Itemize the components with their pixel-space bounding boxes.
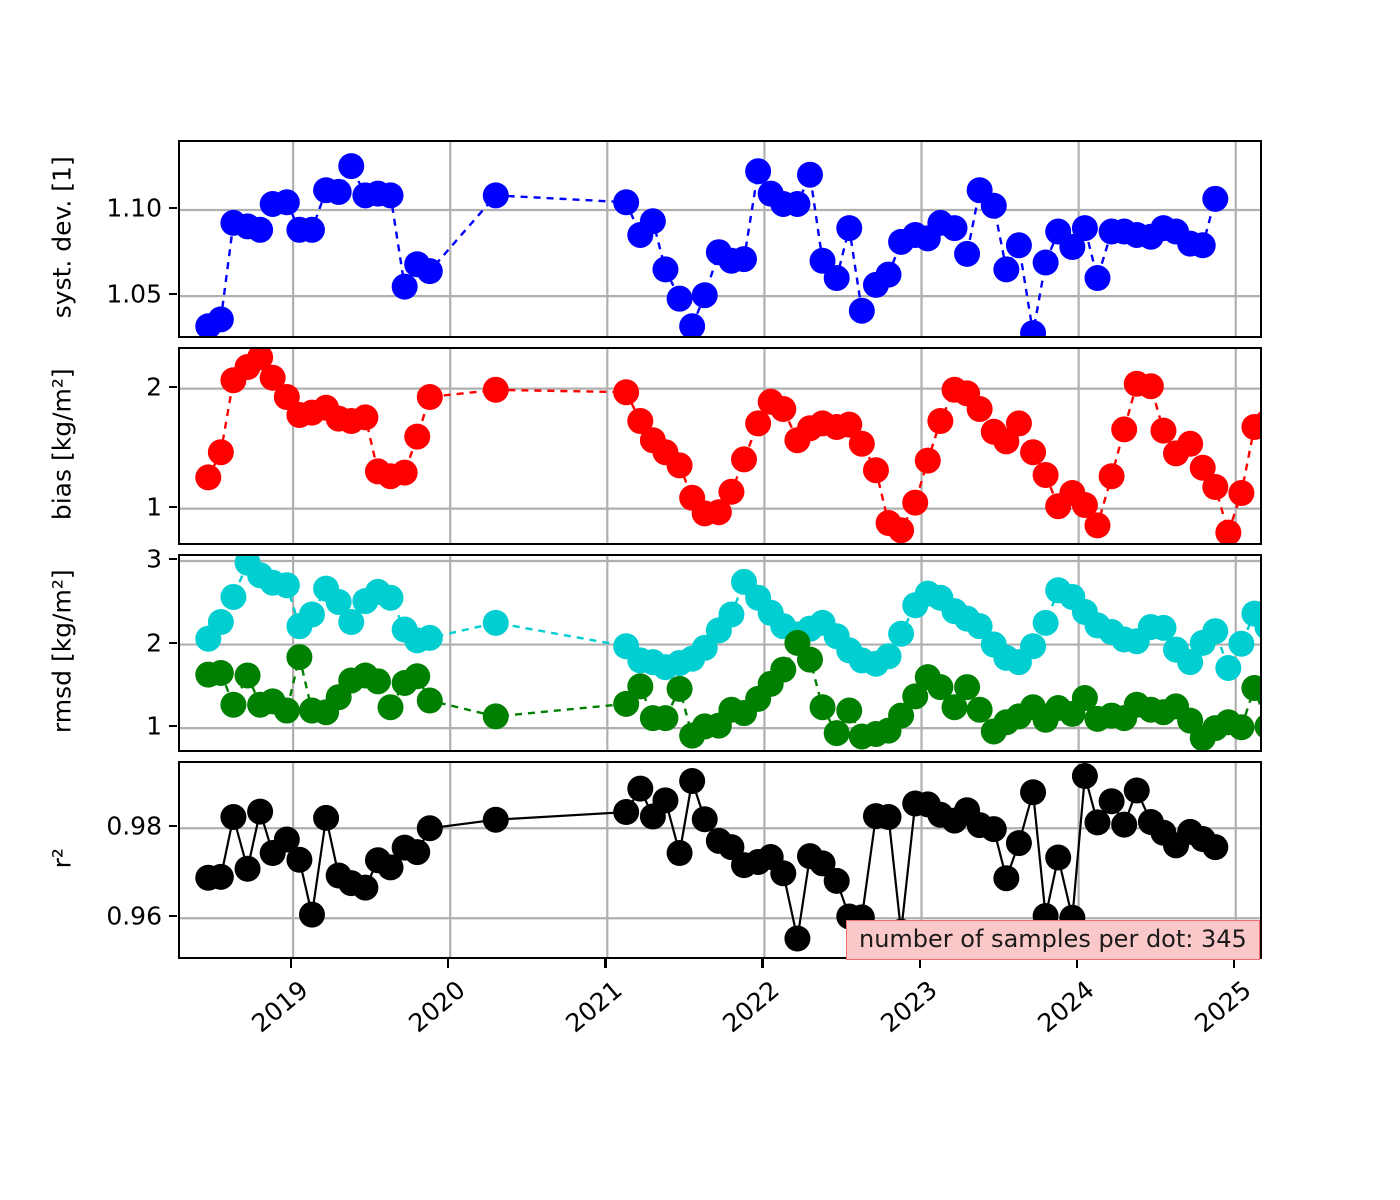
data-point <box>208 439 234 465</box>
y-tickmark <box>169 386 177 388</box>
data-point <box>483 377 509 403</box>
data-point <box>1006 232 1032 258</box>
data-point <box>692 282 718 308</box>
y-tick-label: 2 <box>146 628 162 657</box>
data-point <box>797 162 823 188</box>
data-point <box>731 246 757 272</box>
data-point <box>1045 845 1071 871</box>
data-point <box>784 191 810 217</box>
data-point <box>770 657 796 683</box>
data-point <box>1084 809 1110 835</box>
data-point <box>993 865 1019 891</box>
data-point <box>1177 431 1203 457</box>
data-point <box>1150 418 1176 444</box>
data-point <box>417 815 443 841</box>
data-point <box>627 776 653 802</box>
data-point <box>286 847 312 873</box>
y-axis-label-panel-3: rmsd [kg/m²] <box>48 551 77 751</box>
data-point <box>1241 675 1260 701</box>
x-tick-label: 2023 <box>850 975 942 1059</box>
data-point <box>1111 416 1137 442</box>
data-point <box>888 621 914 647</box>
data-point <box>1033 610 1059 636</box>
data-point <box>718 479 744 505</box>
data-point <box>613 189 639 215</box>
y-tickmark <box>169 725 177 727</box>
data-point <box>299 902 325 928</box>
data-point <box>195 464 221 490</box>
data-point <box>1202 618 1228 644</box>
data-point <box>404 424 430 450</box>
data-point <box>902 490 928 516</box>
data-point <box>208 864 234 890</box>
y-tick-label: 1 <box>146 492 162 521</box>
data-point <box>993 256 1019 282</box>
y-tickmark <box>169 642 177 644</box>
data-point <box>718 601 744 627</box>
y-axis-label-panel-2: bias [kg/m²] <box>48 344 77 544</box>
series-markers-bias <box>195 349 1260 543</box>
data-point <box>797 647 823 673</box>
y-tickmark <box>169 506 177 508</box>
data-point <box>667 676 693 702</box>
data-point <box>483 182 509 208</box>
data-point <box>745 158 771 184</box>
y-tickmark <box>169 293 177 295</box>
y-axis-label-panel-4: r² <box>48 758 77 958</box>
data-point <box>1228 714 1254 740</box>
panel-svg-3 <box>180 556 1260 750</box>
data-point <box>483 807 509 833</box>
series-line-bias <box>208 357 1260 532</box>
data-point <box>352 875 378 901</box>
data-point <box>667 286 693 312</box>
panel-plot-area-1 <box>180 142 1260 336</box>
data-point <box>392 460 418 486</box>
data-point <box>981 816 1007 842</box>
data-point <box>235 662 261 688</box>
data-point <box>640 208 666 234</box>
data-point <box>667 452 693 478</box>
data-point <box>1072 763 1098 789</box>
y-tickmark <box>169 915 177 917</box>
data-point <box>876 643 902 669</box>
data-point <box>876 262 902 288</box>
x-tickmark <box>604 959 606 968</box>
data-point <box>299 601 325 627</box>
data-point <box>731 446 757 472</box>
figure-canvas: 1.051.10syst. dev. [1]12bias [kg/m²]123r… <box>0 0 1400 1200</box>
data-point <box>365 668 391 694</box>
data-point <box>1099 463 1125 489</box>
data-point <box>824 265 850 291</box>
data-point <box>1072 215 1098 241</box>
data-point <box>784 926 810 952</box>
data-point <box>849 298 875 324</box>
data-point <box>836 698 862 724</box>
x-tickmark <box>290 959 292 968</box>
y-tick-label: 1 <box>146 712 162 741</box>
data-point <box>967 697 993 723</box>
y-tickmark <box>169 558 177 560</box>
x-tick-label: 2020 <box>379 975 471 1059</box>
data-point <box>652 256 678 282</box>
panel-plot-area-3 <box>180 556 1260 750</box>
series-markers-rmsd-unbiased <box>195 630 1260 750</box>
panel-svg-1 <box>180 142 1260 336</box>
x-tick-label: 2025 <box>1164 975 1256 1059</box>
data-point <box>378 182 404 208</box>
data-point <box>888 517 914 543</box>
x-tickmark <box>447 959 449 968</box>
data-point <box>863 457 889 483</box>
data-point <box>824 720 850 746</box>
data-point <box>274 698 300 724</box>
data-point <box>770 396 796 422</box>
data-point <box>274 189 300 215</box>
data-point <box>1020 779 1046 805</box>
data-point <box>954 674 980 700</box>
data-point <box>613 379 639 405</box>
data-point <box>417 258 443 284</box>
data-point <box>247 799 273 825</box>
data-point <box>679 768 705 794</box>
data-point <box>483 703 509 729</box>
data-point <box>849 431 875 457</box>
data-point <box>299 217 325 243</box>
y-tick-label: 1.05 <box>106 280 162 309</box>
data-point <box>1033 250 1059 276</box>
data-point <box>1020 439 1046 465</box>
x-tickmark <box>1233 959 1235 968</box>
data-point <box>1084 512 1110 538</box>
y-tick-label: 0.98 <box>106 812 162 841</box>
x-tick-label: 2024 <box>1007 975 1099 1059</box>
data-point <box>836 215 862 241</box>
data-point <box>208 660 234 686</box>
x-tickmark <box>761 959 763 968</box>
data-point <box>417 625 443 651</box>
data-point <box>1006 830 1032 856</box>
data-point <box>915 448 941 474</box>
data-point <box>220 584 246 610</box>
data-point <box>274 572 300 598</box>
y-tickmark <box>169 207 177 209</box>
data-point <box>627 673 653 699</box>
data-point <box>652 705 678 731</box>
data-point <box>1099 788 1125 814</box>
data-point <box>1202 834 1228 860</box>
data-point <box>1228 631 1254 657</box>
data-point <box>967 396 993 422</box>
y-tick-label: 2 <box>146 372 162 401</box>
data-point <box>942 215 968 241</box>
x-tickmark <box>1076 959 1078 968</box>
y-tick-label: 0.96 <box>106 902 162 931</box>
y-tickmark <box>169 825 177 827</box>
data-point <box>208 609 234 635</box>
data-point <box>392 274 418 300</box>
data-point <box>313 805 339 831</box>
x-tick-label: 2019 <box>222 975 314 1059</box>
y-tick-label: 3 <box>146 545 162 574</box>
data-point <box>338 153 364 179</box>
data-point <box>1020 633 1046 659</box>
data-point <box>404 839 430 865</box>
samples-per-dot-annotation: number of samples per dot: 345 <box>846 920 1260 960</box>
panel-svg-2 <box>180 349 1260 543</box>
data-point <box>927 408 953 434</box>
data-point <box>1084 265 1110 291</box>
data-point <box>483 610 509 636</box>
panel-plot-area-2 <box>180 349 1260 543</box>
data-point <box>208 306 234 332</box>
data-point <box>613 799 639 825</box>
data-point <box>876 804 902 830</box>
panel-1 <box>178 140 1262 338</box>
data-point <box>378 585 404 611</box>
data-point <box>1215 655 1241 681</box>
data-point <box>1020 320 1046 336</box>
panel-2 <box>178 347 1262 545</box>
data-point <box>652 787 678 813</box>
x-tickmark <box>919 959 921 968</box>
data-point <box>770 860 796 886</box>
data-point <box>378 694 404 720</box>
data-point <box>824 868 850 894</box>
data-point <box>1254 713 1260 739</box>
data-point <box>667 840 693 866</box>
data-point <box>352 404 378 430</box>
data-point <box>1150 615 1176 641</box>
data-point <box>286 644 312 670</box>
data-point <box>1190 232 1216 258</box>
data-point <box>326 179 352 205</box>
data-point <box>247 217 273 243</box>
x-tick-label: 2022 <box>693 975 785 1059</box>
data-point <box>1202 474 1228 500</box>
y-tick-label: 1.10 <box>106 194 162 223</box>
data-point <box>679 313 705 336</box>
data-point <box>404 663 430 689</box>
data-point <box>1033 462 1059 488</box>
data-point <box>1006 410 1032 436</box>
data-point <box>810 694 836 720</box>
data-point <box>1228 480 1254 506</box>
data-point <box>981 193 1007 219</box>
data-point <box>1202 186 1228 212</box>
data-point <box>692 806 718 832</box>
panel-3 <box>178 554 1262 752</box>
data-point <box>954 241 980 267</box>
data-point <box>220 804 246 830</box>
data-point <box>1124 777 1150 803</box>
data-point <box>1111 812 1137 838</box>
x-tick-label: 2021 <box>536 975 628 1059</box>
data-point <box>417 688 443 714</box>
data-point <box>1215 520 1241 543</box>
data-point <box>220 692 246 718</box>
data-point <box>235 856 261 882</box>
data-point <box>417 384 443 410</box>
series-markers-rmsd-total <box>195 556 1260 681</box>
y-axis-label-panel-1: syst. dev. [1] <box>48 137 77 337</box>
series-markers-syst-dev- <box>195 153 1228 336</box>
data-point <box>1138 373 1164 399</box>
